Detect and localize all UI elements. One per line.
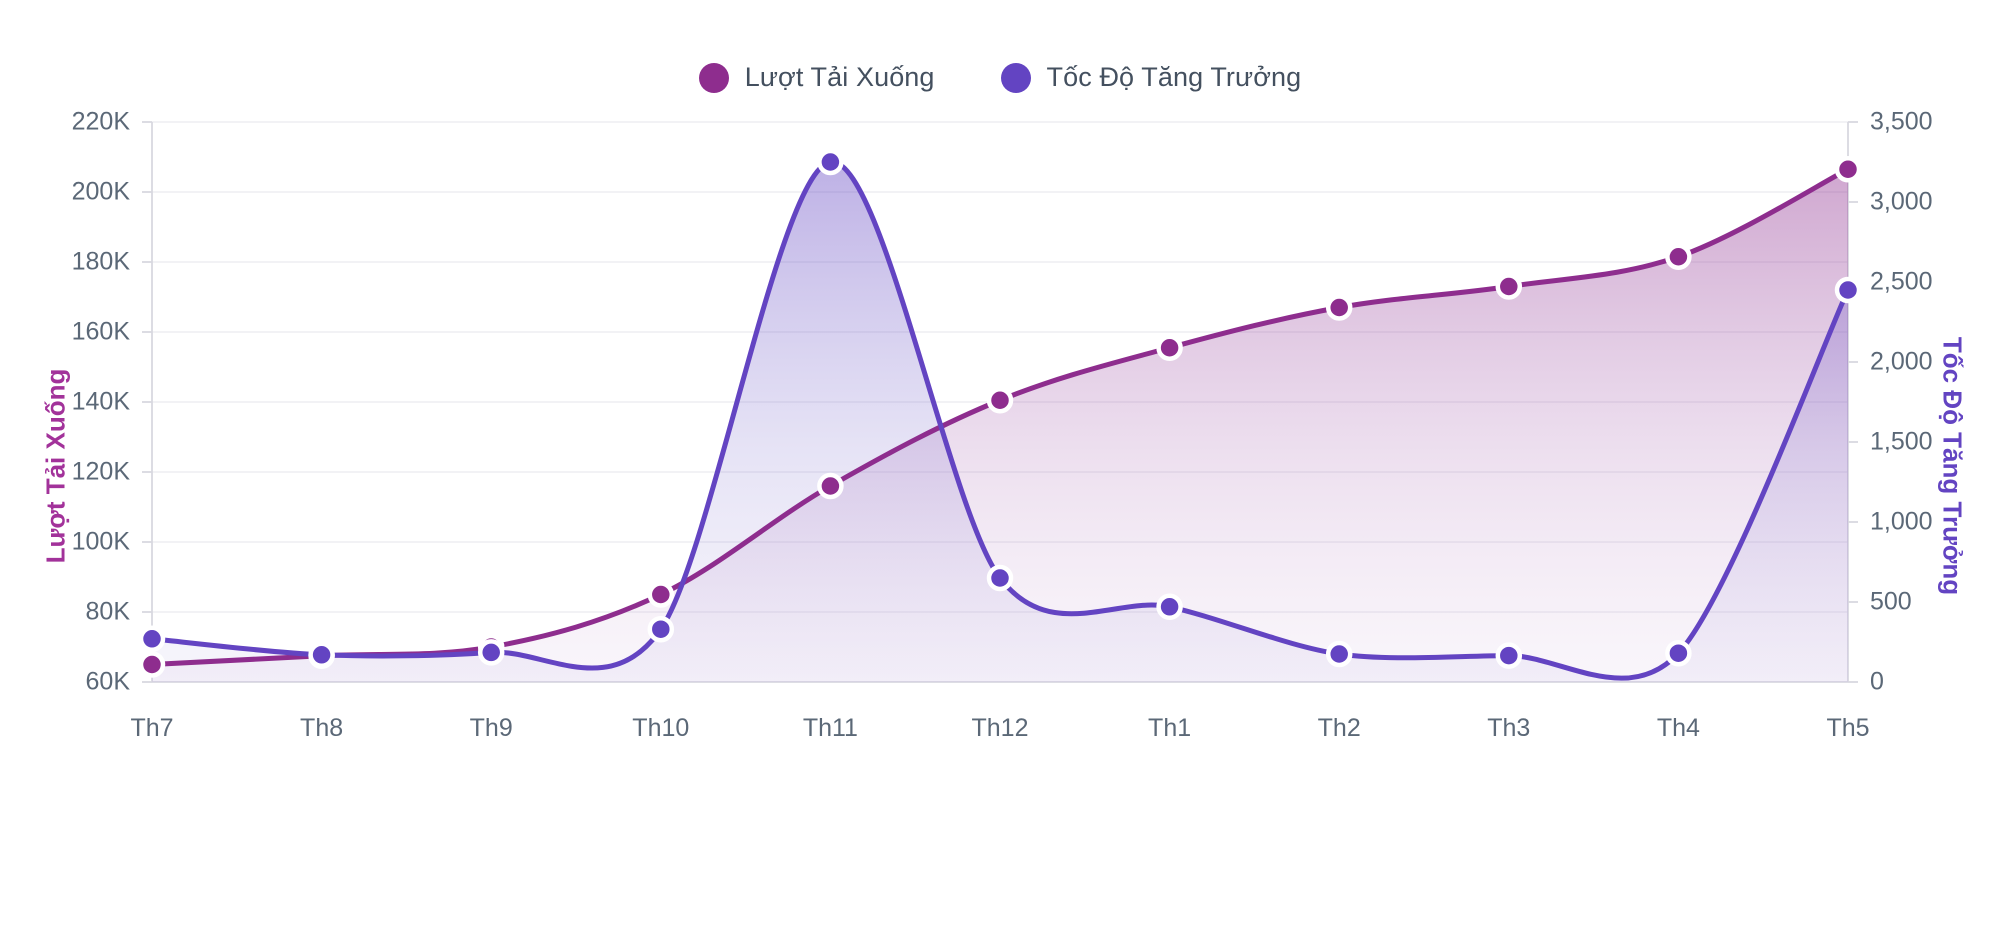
x-axis-tick: Th2 — [1318, 714, 1361, 743]
y-axis-left-tick: 60K — [0, 668, 130, 697]
x-axis-tick: Th3 — [1487, 714, 1530, 743]
plot-area: 220K200K180K160K140K120K100K80K60K 3,500… — [0, 0, 2000, 932]
x-axis-tick: Th11 — [803, 714, 858, 743]
y-axis-right-title: Tốc Độ Tăng Trưởng — [1937, 337, 1968, 595]
y-axis-left-tick: 180K — [0, 248, 130, 277]
y-axis-left-tick: 200K — [0, 178, 130, 207]
chart-container: Lượt Tải Xuống Tốc Độ Tăng Trưởng — [0, 0, 2000, 932]
y-axis-right-tick: 0 — [1870, 668, 1884, 697]
y-axis-right-tick: 1,000 — [1870, 508, 1933, 537]
x-axis-tick: Th5 — [1826, 714, 1869, 743]
y-axis-left-tick: 80K — [0, 598, 130, 627]
plot-svg — [0, 0, 2000, 932]
x-axis-tick: Th8 — [300, 714, 343, 743]
y-axis-right-tick: 2,500 — [1870, 268, 1933, 297]
x-axis-tick: Th7 — [130, 714, 173, 743]
x-axis-tick: Th9 — [470, 714, 513, 743]
y-axis-left-tick: 160K — [0, 318, 130, 347]
y-axis-left-title: Lượt Tải Xuống — [41, 369, 72, 564]
y-axis-right-tick: 2,000 — [1870, 348, 1933, 377]
y-axis-right-tick: 1,500 — [1870, 428, 1933, 457]
x-axis-tick: Th12 — [972, 714, 1029, 743]
x-axis-tick: Th1 — [1148, 714, 1191, 743]
y-axis-left-tick: 220K — [0, 108, 130, 137]
y-axis-right-tick: 3,000 — [1870, 188, 1933, 217]
series-areas — [152, 162, 1848, 682]
y-axis-right-tick: 500 — [1870, 588, 1912, 617]
y-axis-right-tick: 3,500 — [1870, 108, 1933, 137]
x-axis-tick: Th4 — [1657, 714, 1700, 743]
x-axis-tick: Th10 — [632, 714, 689, 743]
